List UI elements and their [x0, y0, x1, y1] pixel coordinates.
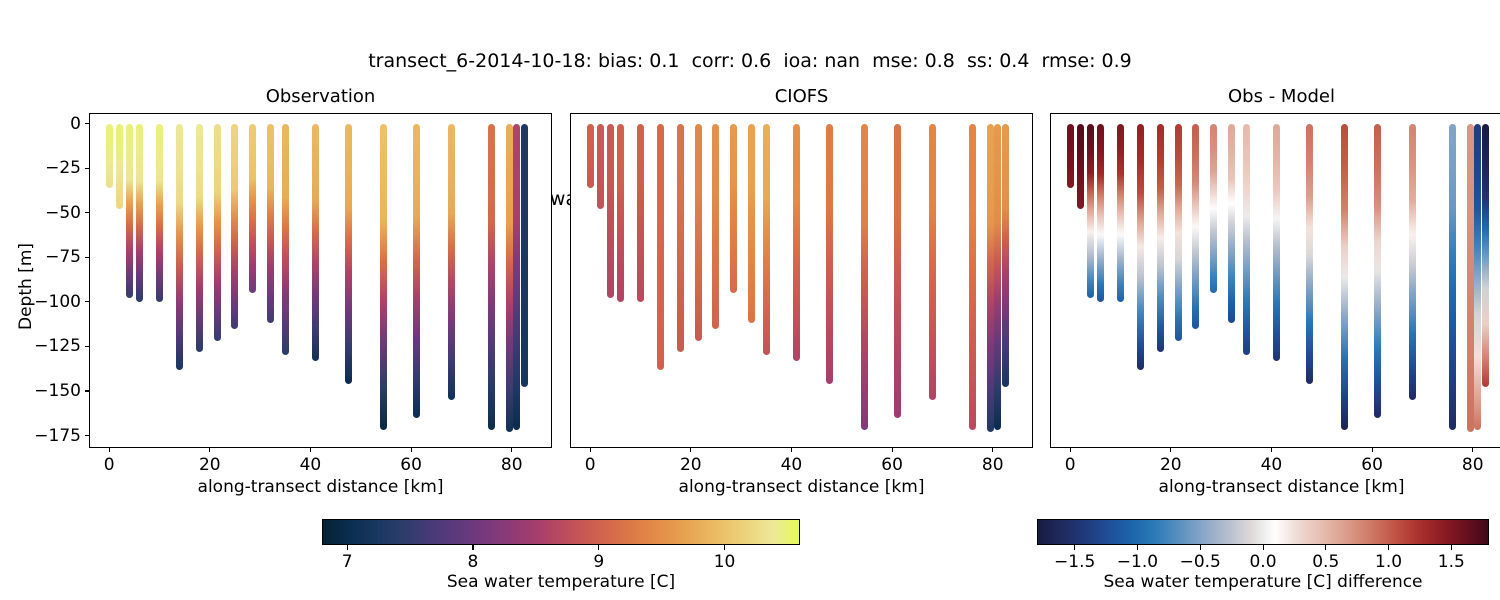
x-tick-label: 40 [1261, 455, 1283, 475]
colorbar-difference-tick-label: 1.0 [1375, 552, 1402, 572]
cast-column [1409, 124, 1416, 400]
x-tick-label: 0 [1065, 455, 1076, 475]
cast-column [695, 124, 702, 341]
cast-column [969, 124, 976, 430]
cast-column [597, 124, 604, 210]
cast-column [1467, 124, 1474, 432]
cast-column [521, 124, 528, 388]
cast-column [1067, 124, 1074, 188]
cast-column [448, 124, 455, 400]
y-tick [85, 301, 89, 302]
colorbar-difference-tick [1325, 545, 1326, 550]
colorbar-temperature-tick [347, 545, 348, 550]
x-tick-label: 80 [1462, 455, 1484, 475]
colorbar-difference-tick-label: −1.5 [1054, 552, 1095, 572]
colorbar-temperature-gradient [322, 519, 800, 545]
cast-column [506, 124, 513, 432]
cast-column [282, 124, 289, 356]
panel-title-ciofs: CIOFS [570, 86, 1033, 107]
cast-column [748, 124, 755, 324]
colorbar-temperature-tick [472, 545, 473, 550]
cast-column [894, 124, 901, 418]
y-tick [85, 212, 89, 213]
cast-column [1157, 124, 1164, 352]
cast-column [136, 124, 143, 302]
x-tick-label: 60 [400, 455, 422, 475]
colorbar-difference-tick-label: −1.0 [1117, 552, 1158, 572]
x-tick [590, 448, 591, 452]
y-tick [85, 257, 89, 258]
cast-column [929, 124, 936, 400]
cast-column [106, 124, 113, 188]
suptitle-line-stats: transect_6-2014-10-18: bias: 0.1 corr: 0… [0, 50, 1500, 73]
colorbar-difference-tick-label: 1.5 [1438, 552, 1465, 572]
y-tick-label: −175 [11, 426, 81, 446]
panel-title-difference: Obs - Model [1050, 86, 1500, 107]
cast-column [712, 124, 719, 329]
y-tick-label: −150 [11, 381, 81, 401]
x-tick [791, 448, 792, 452]
cast-column [637, 124, 644, 302]
x-axis-label-ciofs: along-transect distance [km] [570, 477, 1033, 497]
cast-column [607, 124, 614, 299]
x-tick [411, 448, 412, 452]
colorbar-difference-tick-label: 0.5 [1312, 552, 1339, 572]
cast-column [1210, 124, 1217, 293]
x-tick [1070, 448, 1071, 452]
colorbar-temperature-tick [724, 545, 725, 550]
x-tick [209, 448, 210, 452]
colorbar-temperature-tick [598, 545, 599, 550]
cast-column [156, 124, 163, 302]
cast-column [1306, 124, 1313, 384]
x-tick-label: 60 [1361, 455, 1383, 475]
y-tick [85, 168, 89, 169]
cast-column [994, 124, 1001, 430]
x-tick [1170, 448, 1171, 452]
colorbar-difference-tick [1263, 545, 1264, 550]
x-tick-label: 20 [1160, 455, 1182, 475]
colorbar-temperature-tick-label: 8 [468, 552, 479, 572]
cast-column [214, 124, 221, 341]
x-tick-label: 0 [104, 455, 115, 475]
cast-column [267, 124, 274, 324]
cast-column [488, 124, 495, 430]
x-axis-label-difference: along-transect distance [km] [1050, 477, 1500, 497]
y-tick-label: −50 [11, 203, 81, 223]
x-tick-label: 20 [199, 455, 221, 475]
cast-column [1087, 124, 1094, 299]
panel-title-observation: Observation [89, 86, 552, 107]
cast-column [1137, 124, 1144, 370]
cast-column [380, 124, 387, 430]
cast-column [1273, 124, 1280, 361]
cast-column [587, 124, 594, 188]
colorbar-temperature-tick-label: 7 [342, 552, 353, 572]
x-tick-label: 80 [982, 455, 1004, 475]
colorbar-temperature-tick-label: 9 [593, 552, 604, 572]
cast-column [1374, 124, 1381, 418]
cast-column [1002, 124, 1009, 388]
y-tick [85, 390, 89, 391]
cast-column [1175, 124, 1182, 341]
y-tick-label: −100 [11, 292, 81, 312]
cast-column [826, 124, 833, 384]
colorbar-temperature-tick-label: 10 [714, 552, 736, 572]
cast-column [1097, 124, 1104, 302]
figure-canvas: transect_6-2014-10-18: bias: 0.1 corr: 0… [0, 0, 1500, 600]
colorbar-temperature-label: Sea water temperature [C] [322, 572, 800, 592]
y-tick [85, 346, 89, 347]
y-tick [85, 123, 89, 124]
colorbar-difference-tick [1388, 545, 1389, 550]
cast-column [345, 124, 352, 384]
cast-column [1228, 124, 1235, 324]
cast-column [1192, 124, 1199, 329]
cast-column [861, 124, 868, 430]
x-tick [511, 448, 512, 452]
colorbar-difference-tick [1137, 545, 1138, 550]
cast-column [1117, 124, 1124, 302]
x-tick-label: 20 [680, 455, 702, 475]
cast-column [1449, 124, 1456, 430]
cast-column [231, 124, 238, 329]
cast-column [1474, 124, 1481, 430]
x-tick [892, 448, 893, 452]
y-tick [85, 435, 89, 436]
colorbar-difference-tick [1200, 545, 1201, 550]
cast-column [312, 124, 319, 361]
x-tick [310, 448, 311, 452]
cast-column [617, 124, 624, 302]
cast-column [1243, 124, 1250, 356]
x-tick [1271, 448, 1272, 452]
colorbar-difference-gradient [1037, 519, 1489, 545]
colorbar-difference-tick [1074, 545, 1075, 550]
cast-column [513, 124, 520, 430]
cast-column [793, 124, 800, 361]
x-tick-label: 40 [300, 455, 322, 475]
colorbar-difference-tick [1451, 545, 1452, 550]
cast-column [1482, 124, 1489, 388]
cast-column [730, 124, 737, 293]
x-tick-label: 80 [501, 455, 523, 475]
cast-column [116, 124, 123, 210]
colorbar-difference-tick-label: 0.0 [1249, 552, 1276, 572]
cast-column [1077, 124, 1084, 210]
x-tick-label: 40 [781, 455, 803, 475]
cast-column [249, 124, 256, 293]
y-tick-label: −25 [11, 158, 81, 178]
y-tick-label: −75 [11, 247, 81, 267]
y-tick-label: −125 [11, 336, 81, 356]
x-tick [992, 448, 993, 452]
x-tick [109, 448, 110, 452]
cast-column [657, 124, 664, 370]
x-tick-label: 60 [881, 455, 903, 475]
cast-column [196, 124, 203, 352]
x-axis-label-observation: along-transect distance [km] [89, 477, 552, 497]
cast-column [413, 124, 420, 418]
cast-column [126, 124, 133, 299]
cast-column [176, 124, 183, 370]
cast-column [987, 124, 994, 432]
cast-column [1341, 124, 1348, 430]
colorbar-difference-tick-label: −0.5 [1180, 552, 1221, 572]
y-tick-label: 0 [11, 114, 81, 134]
x-tick [1472, 448, 1473, 452]
x-tick [690, 448, 691, 452]
cast-column [677, 124, 684, 352]
x-tick [1372, 448, 1373, 452]
x-tick-label: 0 [585, 455, 596, 475]
colorbar-difference-label: Sea water temperature [C] difference [1032, 572, 1494, 592]
cast-column [763, 124, 770, 356]
